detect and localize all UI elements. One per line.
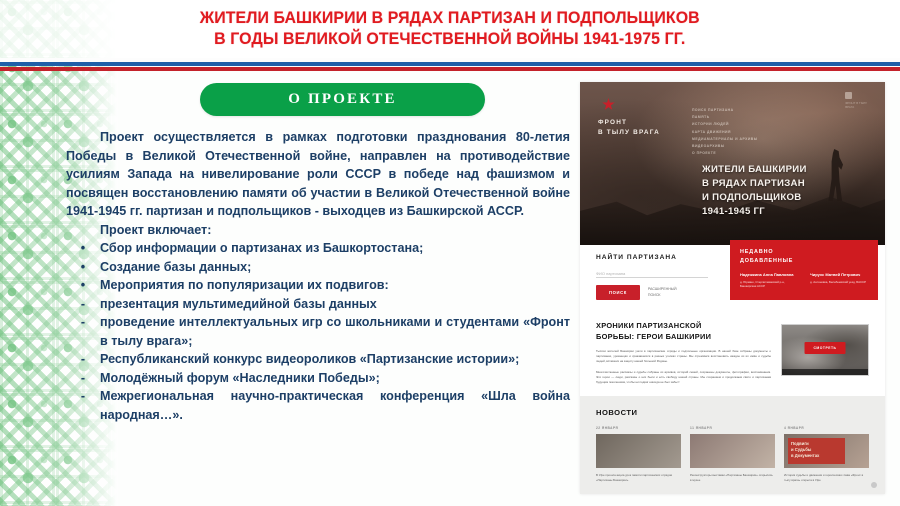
- news-excerpt: Реконструкторы выставки «Партизаны Башки…: [690, 473, 775, 482]
- project-item-label: проведение интеллектуальных игр со школь…: [100, 313, 570, 350]
- search-heading: НАЙТИ ПАРТИЗАНА: [596, 254, 730, 261]
- nav-item-6[interactable]: О ПРОЕКТЕ: [692, 151, 758, 155]
- chronicles-text-column: ХРОНИКИ ПАРТИЗАНСКОЙ БОРЬБЫ: ГЕРОИ БАШКИ…: [596, 321, 771, 384]
- website-screenshot: ФРОНТ В ТЫЛУ ВРАГА ПОИСК ПАРТИЗАНАПАМЯТЬ…: [580, 82, 885, 494]
- news-date: 22 ЯНВАРЯ: [596, 426, 681, 430]
- chronicles-heading: ХРОНИКИ ПАРТИЗАНСКОЙ БОРЬБЫ: ГЕРОИ БАШКИ…: [596, 321, 771, 342]
- section-badge-label: О ПРОЕКТЕ: [288, 91, 397, 108]
- stripe-blue: [0, 62, 900, 66]
- project-item: -Молодёжный форум «Наследники Победы»;: [66, 369, 570, 388]
- badge-text: ФРОНТ В ТЫЛУ ВРАГА: [845, 101, 867, 110]
- news-heading: НОВОСТИ: [596, 408, 869, 417]
- bullet-marker: -: [66, 295, 100, 314]
- news-card[interactable]: 4 ЯНВАРЯПодвиги и Судьбы в ДокументахИст…: [784, 426, 869, 482]
- project-item-label: Молодёжный форум «Наследники Победы»;: [100, 369, 570, 388]
- advanced-search-link[interactable]: РАСШИРЕННЫЙ ПОИСК: [648, 287, 677, 298]
- recently-added-list: Надежкина Анна Павловнад. Юрмаш, Стерлит…: [740, 272, 868, 288]
- search-controls: ПОИСК РАСШИРЕННЫЙ ПОИСК: [596, 285, 730, 300]
- bullet-marker: •: [66, 258, 100, 277]
- news-card-grid: 22 ЯНВАРЯВ Уфе прошла акция-урок памяти …: [596, 426, 869, 482]
- project-item: •Создание базы данных;: [66, 258, 570, 277]
- nav-item-5[interactable]: ВИДЕОАРХИВЫ: [692, 144, 758, 148]
- nav-item-4[interactable]: МЕДИАМАТЕРИАЛЫ И АРХИВЫ: [692, 137, 758, 141]
- bullet-marker: •: [66, 239, 100, 258]
- project-item: -проведение интеллектуальных игр со школ…: [66, 313, 570, 350]
- recently-added-heading: НЕДАВНО ДОБАВЛЕННЫЕ: [740, 248, 868, 265]
- news-card[interactable]: 22 ЯНВАРЯВ Уфе прошла акция-урок памяти …: [596, 426, 681, 482]
- video-player[interactable]: СМОТРЕТЬ: [781, 324, 869, 376]
- bullet-marker: -: [66, 369, 100, 388]
- tricolor-stripe: [0, 58, 900, 72]
- nav-item-1[interactable]: ПАМЯТЬ: [692, 115, 758, 119]
- project-item-label: презентация мультимедийной базы данных: [100, 295, 570, 314]
- site-search-section: НАЙТИ ПАРТИЗАНА ФИО партизана ПОИСК РАСШ…: [580, 245, 885, 307]
- slide-header: ЖИТЕЛИ БАШКИРИИ В РЯДАХ ПАРТИЗАН И ПОДПО…: [0, 0, 900, 58]
- news-excerpt: История судьбы и движения и героическая …: [784, 473, 869, 482]
- news-section: НОВОСТИ 22 ЯНВАРЯВ Уфе прошла акция-урок…: [580, 396, 885, 494]
- project-item-label: Межрегиональная научно-практическая конф…: [100, 387, 570, 424]
- search-input[interactable]: ФИО партизана: [596, 268, 708, 278]
- section-badge-about: О ПРОЕКТЕ: [200, 83, 485, 116]
- partisan-name: Чирухс Матвей Петрович: [810, 272, 868, 278]
- project-item-label: Мероприятия по популяризации их подвигов…: [100, 276, 570, 295]
- stripe-red: [0, 67, 900, 71]
- project-item: •Мероприятия по популяризации их подвиго…: [66, 276, 570, 295]
- chronicles-paragraph-1: Тысячи жителей Башкирии ушли в партизанс…: [596, 349, 771, 363]
- nav-item-3[interactable]: КАРТА ДВИЖЕНИЯ: [692, 130, 758, 134]
- watch-button[interactable]: СМОТРЕТЬ: [805, 342, 846, 354]
- site-nav-menu[interactable]: ПОИСК ПАРТИЗАНАПАМЯТЬИСТОРИИ ЛЮДЕЙКАРТА …: [692, 108, 758, 155]
- news-poster-text: Подвиги и Судьбы в Документах: [788, 438, 845, 464]
- project-item: •Сбор информации о партизанах из Башкорт…: [66, 239, 570, 258]
- bullet-marker: -: [66, 387, 100, 406]
- nav-item-2[interactable]: ИСТОРИИ ЛЮДЕЙ: [692, 122, 758, 126]
- partisan-place: д. Юрмаш, Стерлитамакский р-н, Башкирска…: [740, 280, 798, 288]
- recently-added-panel: НЕДАВНО ДОБАВЛЕННЫЕ Надежкина Анна Павло…: [730, 240, 878, 300]
- recent-partisan-card[interactable]: Чирухс Матвей Петровичд. Антоновка, Беле…: [810, 272, 868, 288]
- video-controls-bar[interactable]: [782, 369, 868, 375]
- list-lead: Проект включает:: [66, 221, 570, 240]
- project-item-label: Республиканский конкурс видеороликов «Па…: [100, 350, 570, 369]
- partisan-name: Надежкина Анна Павловна: [740, 272, 798, 278]
- slide-body: Проект осуществляется в рамках подготовк…: [66, 128, 570, 424]
- presentation-slide: ЖИТЕЛИ БАШКИРИИ В РЯДАХ ПАРТИЗАН И ПОДПО…: [0, 0, 900, 506]
- hero-corner-badge: ФРОНТ В ТЫЛУ ВРАГА: [845, 92, 867, 110]
- page-title: ЖИТЕЛИ БАШКИРИИ В РЯДАХ ПАРТИЗАН И ПОДПО…: [84, 8, 817, 50]
- site-logo-text: ФРОНТ В ТЫЛУ ВРАГА: [598, 118, 660, 137]
- intro-paragraph: Проект осуществляется в рамках подготовк…: [66, 128, 570, 221]
- search-button[interactable]: ПОИСК: [596, 285, 640, 300]
- bullet-marker: -: [66, 313, 100, 332]
- bullet-marker: -: [66, 350, 100, 369]
- news-date: 11 ЯНВАРЯ: [690, 426, 775, 430]
- search-panel: НАЙТИ ПАРТИЗАНА ФИО партизана ПОИСК РАСШ…: [580, 245, 730, 307]
- project-item: -Республиканский конкурс видеороликов «П…: [66, 350, 570, 369]
- news-thumbnail: [596, 434, 681, 468]
- project-item: -презентация мультимедийной базы данных: [66, 295, 570, 314]
- project-items-list: •Сбор информации о партизанах из Башкорт…: [66, 239, 570, 424]
- project-item-label: Сбор информации о партизанах из Башкорто…: [100, 239, 570, 258]
- partisan-place: д. Антоновка, Белебеевский уезд, БАССР: [810, 280, 868, 284]
- scroll-indicator[interactable]: [871, 482, 877, 488]
- site-hero: ФРОНТ В ТЫЛУ ВРАГА ПОИСК ПАРТИЗАНАПАМЯТЬ…: [580, 82, 885, 245]
- nav-item-0[interactable]: ПОИСК ПАРТИЗАНА: [692, 108, 758, 112]
- chronicles-paragraph-2: Многочисленные рассказы и судьбы собраны…: [596, 370, 771, 384]
- news-date: 4 ЯНВАРЯ: [784, 426, 869, 430]
- chronicles-section: ХРОНИКИ ПАРТИЗАНСКОЙ БОРЬБЫ: ГЕРОИ БАШКИ…: [580, 307, 885, 396]
- hero-headline: ЖИТЕЛИ БАШКИРИИ В РЯДАХ ПАРТИЗАН И ПОДПО…: [702, 163, 807, 219]
- project-item-label: Создание базы данных;: [100, 258, 570, 277]
- news-excerpt: В Уфе прошла акция-урок памяти партизанс…: [596, 473, 681, 482]
- recent-partisan-card[interactable]: Надежкина Анна Павловнад. Юрмаш, Стерлит…: [740, 272, 798, 288]
- news-thumbnail: Подвиги и Судьбы в Документах: [784, 434, 869, 468]
- badge-mark-icon: [845, 92, 852, 99]
- news-thumbnail: [690, 434, 775, 468]
- news-card[interactable]: 11 ЯНВАРЯРеконструкторы выставки «Партиз…: [690, 426, 775, 482]
- bullet-marker: •: [66, 276, 100, 295]
- project-item: -Межрегиональная научно-практическая кон…: [66, 387, 570, 424]
